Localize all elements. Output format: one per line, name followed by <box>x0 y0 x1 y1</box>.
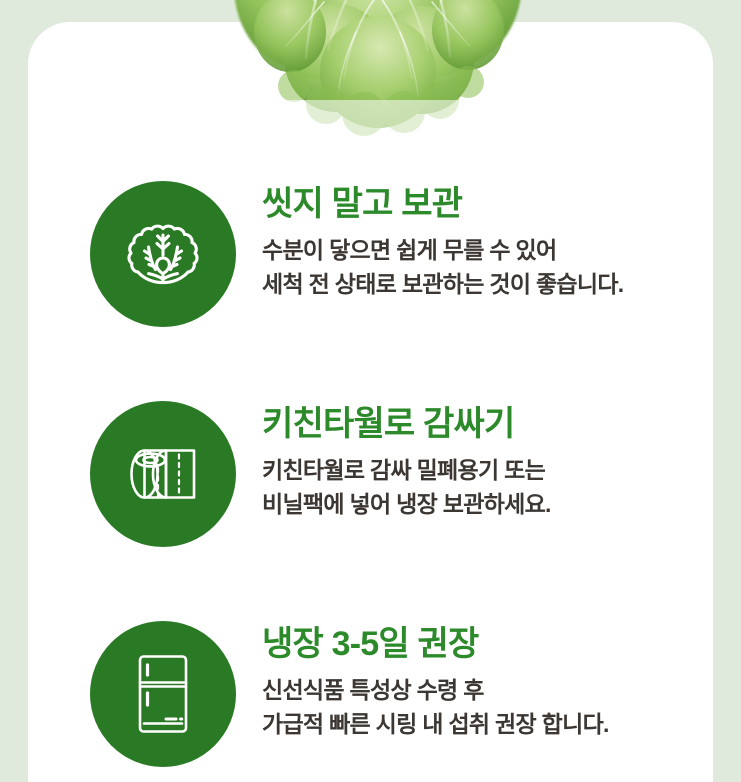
tip-description-line: 가급적 빠른 시링 내 섭취 권장 합니다. <box>262 707 690 741</box>
tip-icon-badge <box>90 401 236 547</box>
tip-description: 수분이 닿으면 쉽게 무를 수 있어 세척 전 상태로 보관하는 것이 좋습니다… <box>262 233 690 301</box>
tip-description-line: 비닐팩에 넣어 냉장 보관하세요. <box>262 487 690 521</box>
tip-description-line: 수분이 닿으면 쉽게 무를 수 있어 <box>262 233 690 267</box>
tip-item: 키친타월로 감싸기 키친타월로 감싸 밀폐용기 또는 비닐팩에 넣어 냉장 보관… <box>90 401 690 551</box>
tip-description-line: 키친타월로 감싸 밀폐용기 또는 <box>262 453 690 487</box>
tip-text-block: 씻지 말고 보관 수분이 닿으면 쉽게 무를 수 있어 세척 전 상태로 보관하… <box>236 181 690 301</box>
tip-item: 씻지 말고 보관 수분이 닿으면 쉽게 무를 수 있어 세척 전 상태로 보관하… <box>90 181 690 331</box>
tip-icon-badge <box>90 621 236 767</box>
storage-guide-page: 씻지 말고 보관 수분이 닿으면 쉽게 무를 수 있어 세척 전 상태로 보관하… <box>0 0 741 782</box>
cabbage-icon <box>124 218 202 290</box>
tip-item: 냉장 3-5일 권장 신선식품 특성상 수령 후 가급적 빠른 시링 내 섭취 … <box>90 621 690 771</box>
tip-title: 씻지 말고 보관 <box>262 185 690 223</box>
tip-description: 키친타월로 감싸 밀폐용기 또는 비닐팩에 넣어 냉장 보관하세요. <box>262 453 690 521</box>
tip-title: 냉장 3-5일 권장 <box>262 625 690 663</box>
tip-description: 신선식품 특성상 수령 후 가급적 빠른 시링 내 섭취 권장 합니다. <box>262 673 690 741</box>
tip-icon-badge <box>90 181 236 327</box>
refrigerator-icon <box>133 653 193 735</box>
tip-title: 키친타월로 감싸기 <box>262 405 690 443</box>
tip-text-block: 키친타월로 감싸기 키친타월로 감싸 밀폐용기 또는 비닐팩에 넣어 냉장 보관… <box>236 401 690 521</box>
tip-description-line: 신선식품 특성상 수령 후 <box>262 673 690 707</box>
paper-towel-roll-icon <box>122 438 204 510</box>
tip-description-line: 세척 전 상태로 보관하는 것이 좋습니다. <box>262 267 690 301</box>
storage-tips-list: 씻지 말고 보관 수분이 닿으면 쉽게 무를 수 있어 세척 전 상태로 보관하… <box>0 0 741 782</box>
tip-text-block: 냉장 3-5일 권장 신선식품 특성상 수령 후 가급적 빠른 시링 내 섭취 … <box>236 621 690 741</box>
